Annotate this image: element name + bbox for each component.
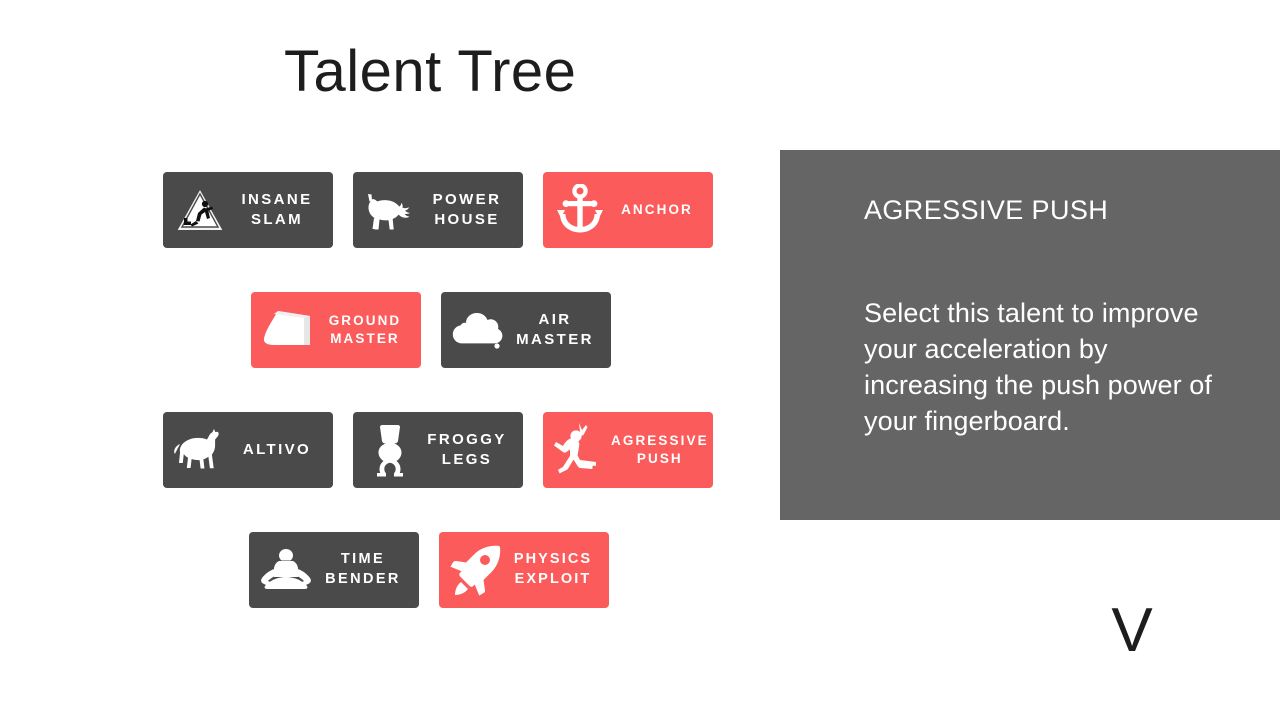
talent-row: ALTIVOFROGGY LEGSAGRESSIVE PUSH	[163, 412, 713, 488]
talent-button-insane-slam[interactable]: INSANE SLAM	[163, 172, 333, 248]
cloud-icon	[449, 301, 507, 359]
talent-button-froggy-legs[interactable]: FROGGY LEGS	[353, 412, 523, 488]
info-panel-title: AGRESSIVE PUSH	[864, 194, 1222, 226]
horse-icon	[171, 421, 229, 479]
ledge-ramp-icon	[259, 301, 317, 359]
talent-button-air-master[interactable]: AIR MASTER	[441, 292, 611, 368]
meditating-person-icon	[257, 541, 315, 599]
talent-row: TIME BENDERPHYSICS EXPLOIT	[249, 532, 609, 608]
talent-button-anchor[interactable]: ANCHOR	[543, 172, 713, 248]
scroll-down-chevron-icon[interactable]: V	[1104, 596, 1160, 666]
talent-button-physics-exploit[interactable]: PHYSICS EXPLOIT	[439, 532, 609, 608]
info-panel-description: Select this talent to improve your accel…	[864, 296, 1222, 440]
talent-label: INSANE SLAM	[229, 190, 323, 231]
pushing-skater-icon	[551, 421, 609, 479]
talent-label: GROUND MASTER	[317, 312, 411, 348]
talent-label: FROGGY LEGS	[419, 430, 513, 471]
talent-grid: INSANE SLAMPOWER HOUSEANCHORGROUND MASTE…	[0, 0, 760, 720]
talent-button-agressive-push[interactable]: AGRESSIVE PUSH	[543, 412, 713, 488]
falling-hazard-sign-icon	[171, 181, 229, 239]
frog-legs-icon	[361, 421, 419, 479]
talent-label: AIR MASTER	[507, 310, 601, 351]
talent-row: INSANE SLAMPOWER HOUSEANCHOR	[163, 172, 713, 248]
talent-button-altivo[interactable]: ALTIVO	[163, 412, 333, 488]
talent-row: GROUND MASTERAIR MASTER	[251, 292, 611, 368]
talent-button-time-bender[interactable]: TIME BENDER	[249, 532, 419, 608]
talent-button-ground-master[interactable]: GROUND MASTER	[251, 292, 421, 368]
talent-label: AGRESSIVE PUSH	[609, 432, 709, 468]
talent-button-power-house[interactable]: POWER HOUSE	[353, 172, 523, 248]
bull-icon	[361, 181, 419, 239]
talent-tree-screen: Talent Tree INSANE SLAMPOWER HOUSEANCHOR…	[0, 0, 1280, 720]
talent-label: PHYSICS EXPLOIT	[505, 550, 599, 589]
rocket-icon	[447, 541, 505, 599]
talent-label: TIME BENDER	[315, 550, 409, 589]
talent-label: POWER HOUSE	[419, 190, 513, 231]
talent-info-panel: AGRESSIVE PUSH Select this talent to imp…	[780, 150, 1280, 520]
talent-label: ALTIVO	[229, 440, 323, 460]
talent-label: ANCHOR	[609, 201, 703, 219]
anchor-icon	[551, 181, 609, 239]
